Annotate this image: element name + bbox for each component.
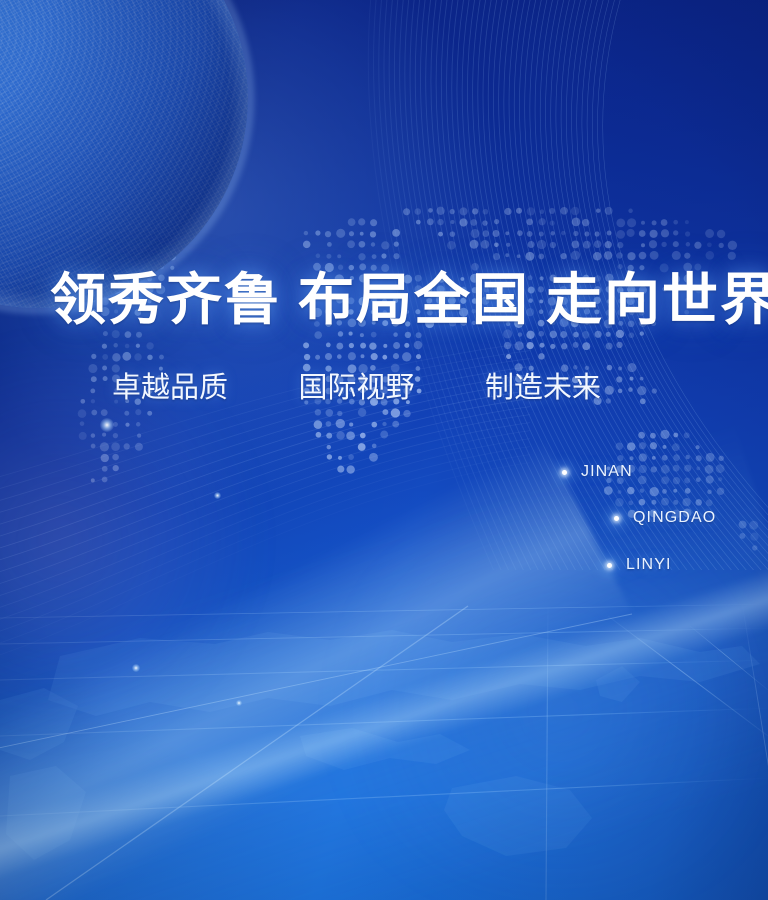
city-dot-icon — [614, 516, 619, 521]
hero-banner: 领秀齐鲁 布局全国 走向世界 卓越品质 国际视野 制造未来 JINAN QING… — [0, 0, 768, 900]
city-marker-linyi[interactable]: LINYI — [607, 556, 672, 574]
subtitle: 卓越品质 国际视野 制造未来 — [112, 370, 601, 406]
city-marker-jinan[interactable]: JINAN — [562, 463, 633, 481]
city-label: LINYI — [626, 556, 672, 574]
city-marker-qingdao[interactable]: QINGDAO — [614, 509, 716, 527]
page-title: 领秀齐鲁 布局全国 走向世界 — [50, 268, 768, 334]
city-label: QINGDAO — [633, 509, 716, 527]
subtitle-part-3: 制造未来 — [485, 372, 601, 404]
subtitle-part-1: 卓越品质 — [112, 372, 228, 404]
globe-icon — [0, 0, 248, 308]
subtitle-part-2: 国际视野 — [299, 372, 415, 404]
city-label: JINAN — [581, 463, 633, 481]
city-dot-icon — [607, 563, 612, 568]
city-dot-icon — [562, 470, 567, 475]
